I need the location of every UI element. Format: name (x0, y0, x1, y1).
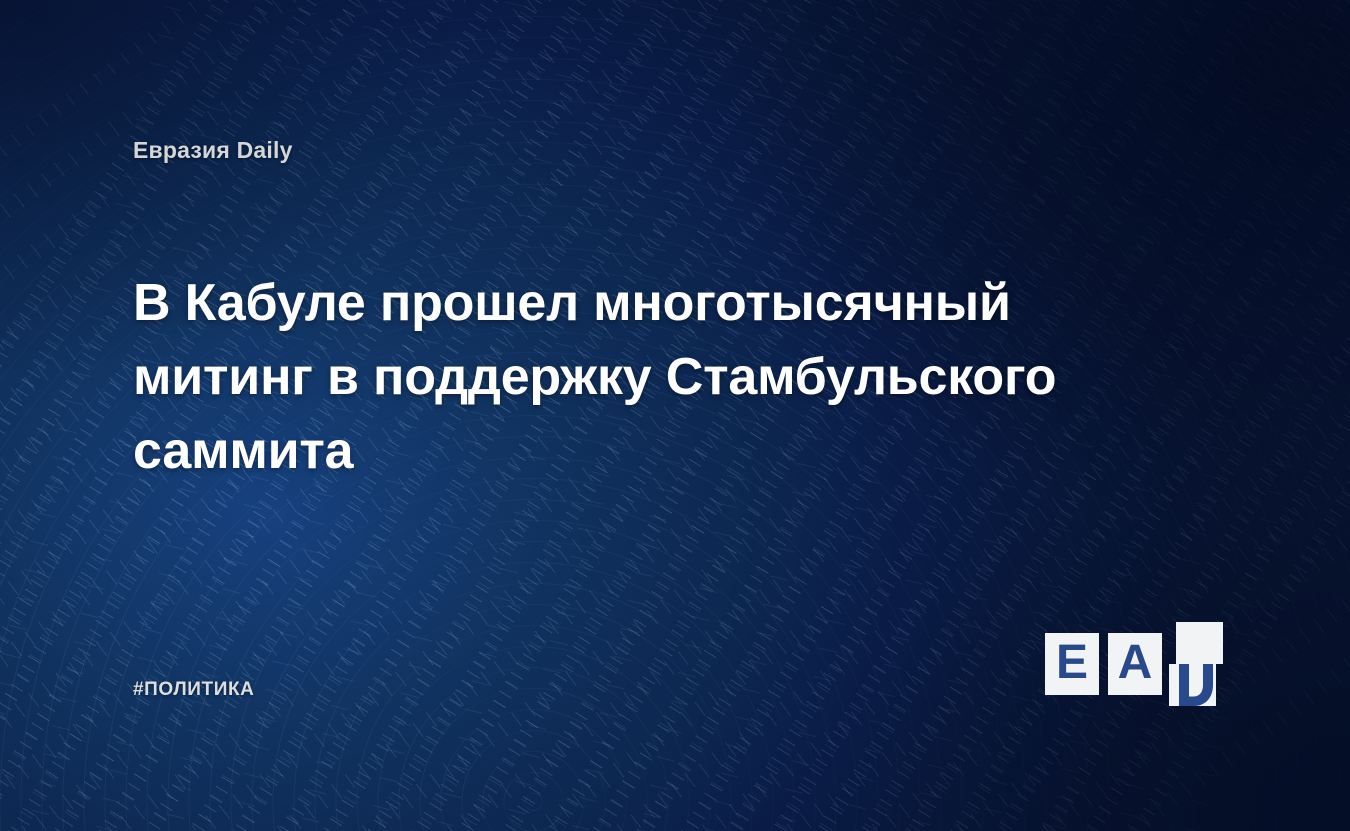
split-d-top-icon (1176, 622, 1223, 664)
split-d-bottom-icon (1169, 664, 1216, 706)
card-content: Евразия Daily В Кабуле прошел многотысяч… (0, 0, 1350, 831)
logo-letter-e: E (1056, 639, 1088, 687)
category-tag: #ПОЛИТИКА (133, 679, 255, 701)
logo-tile-d-bot (1169, 664, 1216, 706)
site-name: Евразия Daily (133, 137, 293, 164)
logo-tile-d-top (1176, 622, 1223, 664)
social-share-card: Евразия Daily В Кабуле прошел многотысяч… (0, 0, 1350, 831)
logo-letter-a: A (1118, 639, 1153, 687)
headline: В Кабуле прошел многотысячный митинг в п… (133, 266, 1133, 488)
logo-tile-e: E (1045, 633, 1099, 695)
logo-tile-a: A (1108, 633, 1162, 695)
ead-logo: E A (1045, 622, 1223, 706)
